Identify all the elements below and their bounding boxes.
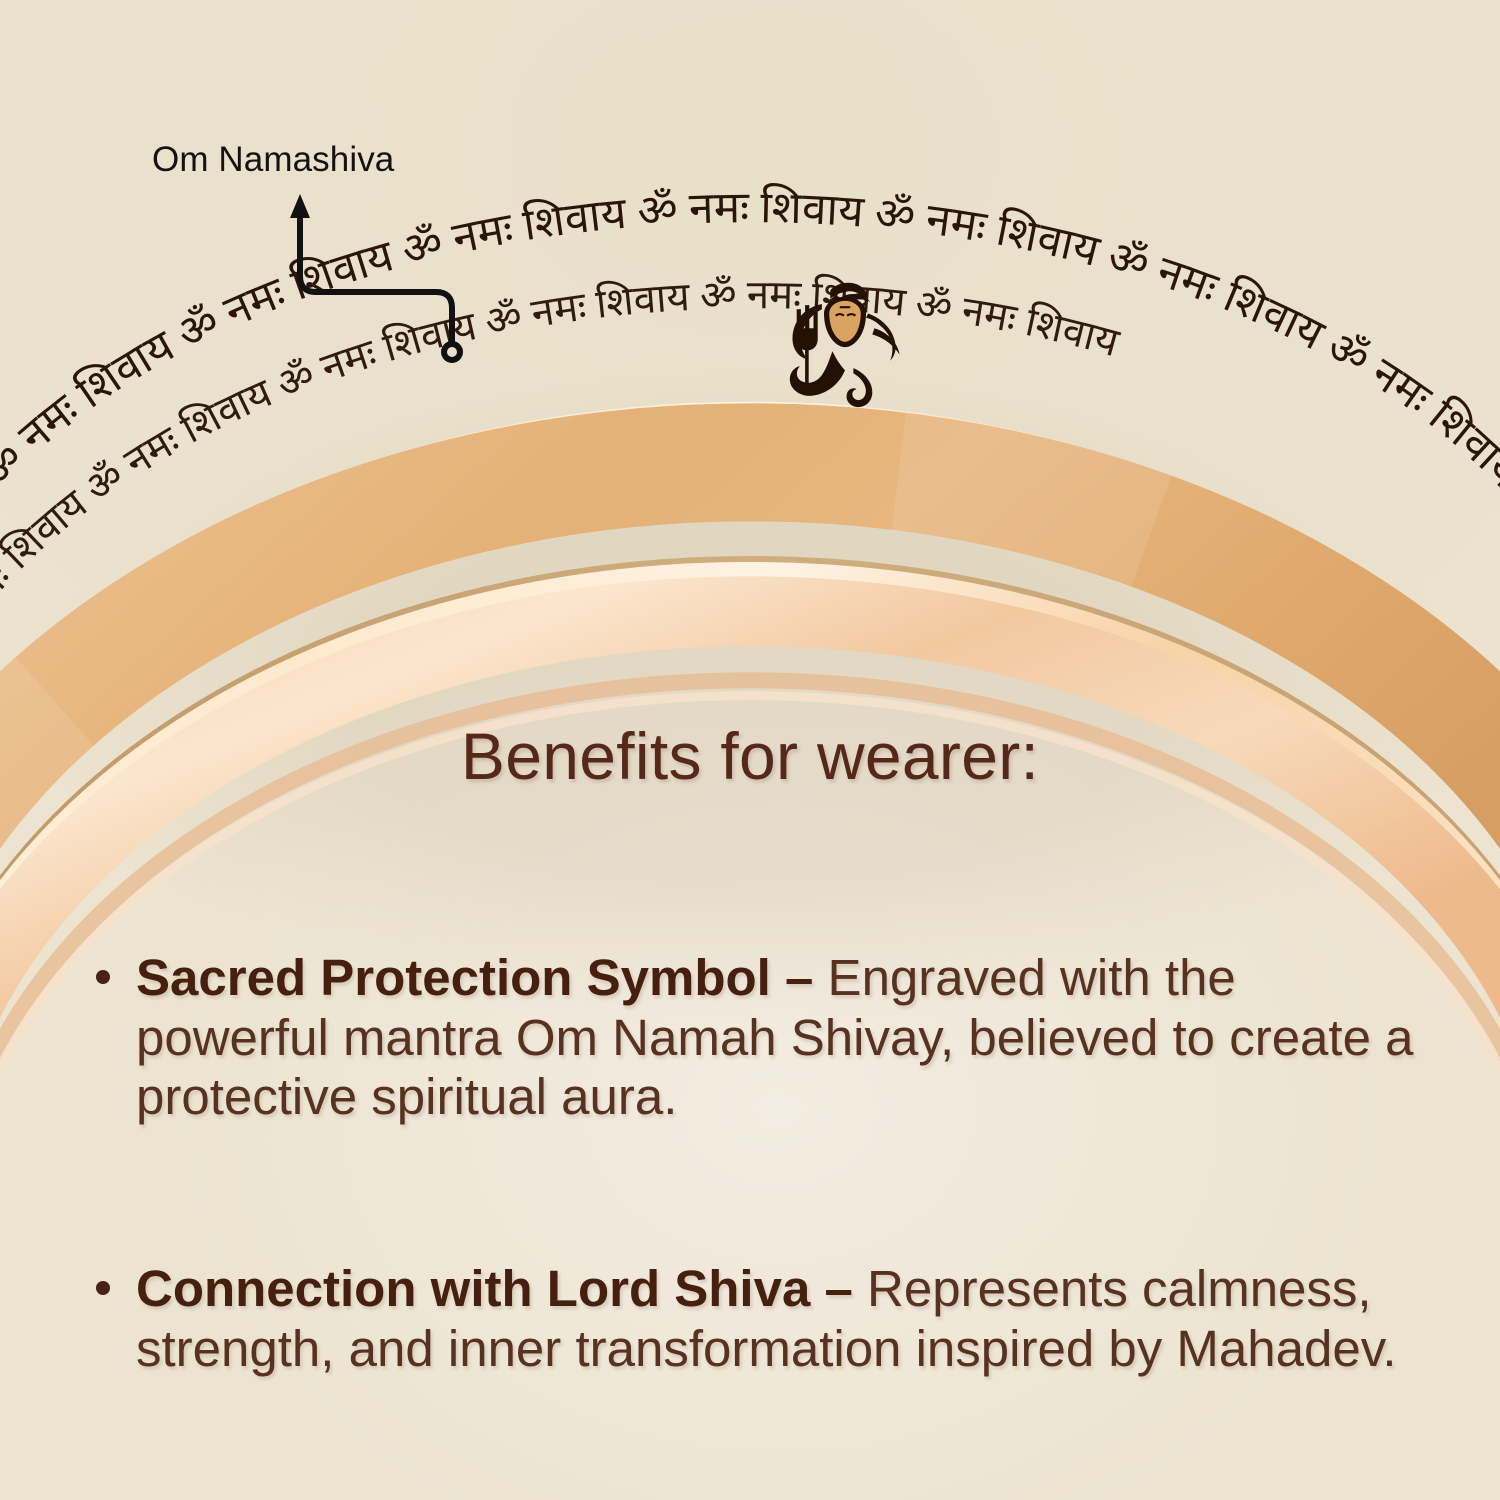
benefits-list: Sacred Protection Symbol – Engraved with… (84, 948, 1414, 1378)
list-item: Sacred Protection Symbol – Engraved with… (84, 948, 1414, 1127)
bullet-dot-icon (96, 970, 110, 984)
callout-arrow-icon (140, 184, 560, 334)
callout-label: Om Namashiva (152, 140, 394, 180)
bullet-lead: Connection with Lord Shiva – (136, 1260, 867, 1317)
benefits-section: Benefits for wearer: Sacred Protection S… (0, 700, 1500, 794)
product-feature-card: ॐ नमः शिवाय ॐ नमः शिवाय ॐ नमः शिवाय ॐ नम… (0, 0, 1500, 1500)
bullet-dot-icon (96, 1281, 110, 1295)
bullet-lead: Sacred Protection Symbol – (136, 949, 828, 1006)
page-title: Benefits for wearer: (0, 700, 1500, 794)
list-item: Connection with Lord Shiva – Represents … (84, 1259, 1414, 1378)
callout: Om Namashiva (140, 140, 560, 340)
shiva-face-icon (790, 283, 900, 407)
